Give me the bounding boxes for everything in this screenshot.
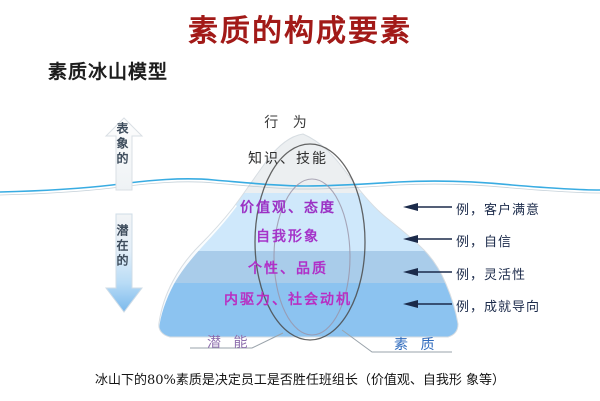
footer-caption: 冰山下的80%素质是决定员工是否胜任班组长（价值观、自我形 象等） (0, 369, 600, 388)
example-label-3: 例，灵活性 (456, 264, 526, 283)
example-label-4: 例，成就导向 (456, 296, 540, 315)
callout-latent-potential: 潜 能 (207, 332, 251, 352)
example-label-1: 例，客户满意 (456, 199, 540, 218)
slide-canvas: 素质的构成要素 素质冰山模型 (0, 0, 600, 401)
behavior-label: 行 为 (0, 112, 588, 132)
layer-label-knowledge-skill: 知识、技能 (0, 148, 588, 168)
example-label-2: 例，自信 (456, 231, 512, 250)
callout-quality: 素 质 (394, 334, 438, 354)
